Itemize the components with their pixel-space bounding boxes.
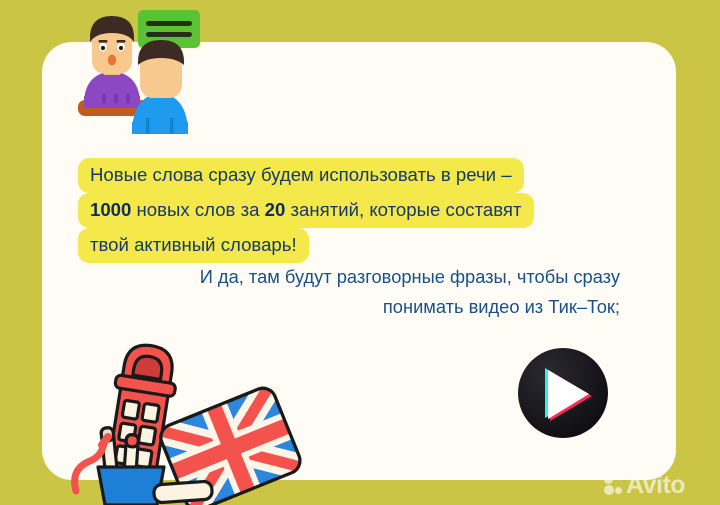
paragraph-line-2: понимать видео из Тик–Ток; (128, 292, 620, 322)
paragraph-line-1: И да, там будут разговорные фразы, чтобы… (128, 262, 620, 292)
back-person (132, 40, 188, 134)
avito-logo-dots-icon (604, 474, 623, 496)
highlight-line-2: 1000 новых слов за 20 занятий, которые с… (78, 193, 534, 228)
secondary-paragraph: И да, там будут разговорные фразы, чтобы… (128, 262, 620, 322)
highlight-line-1: Новые слова сразу будем использовать в р… (78, 158, 524, 193)
screenshot-canvas: Новые слова сразу будем использовать в р… (0, 0, 720, 505)
front-person (84, 16, 140, 108)
tiktok-play-button-icon[interactable] (517, 347, 609, 439)
highlight-bold-1000: 1000 (90, 199, 131, 220)
highlight-line-2-mid: новых слов за (131, 199, 264, 220)
two-people-talking-illustration (74, 6, 210, 134)
avito-brand-text: Avito (626, 473, 685, 498)
highlight-bold-20: 20 (265, 199, 286, 220)
highlight-line-3: твой активный словарь! (78, 228, 309, 263)
avito-watermark: Avito (604, 470, 710, 500)
highlighted-paragraph: Новые слова сразу будем использовать в р… (78, 158, 578, 263)
british-phone-booth-uk-flag-illustration (58, 343, 303, 505)
highlight-line-2-end: занятий, которые составят (285, 199, 521, 220)
